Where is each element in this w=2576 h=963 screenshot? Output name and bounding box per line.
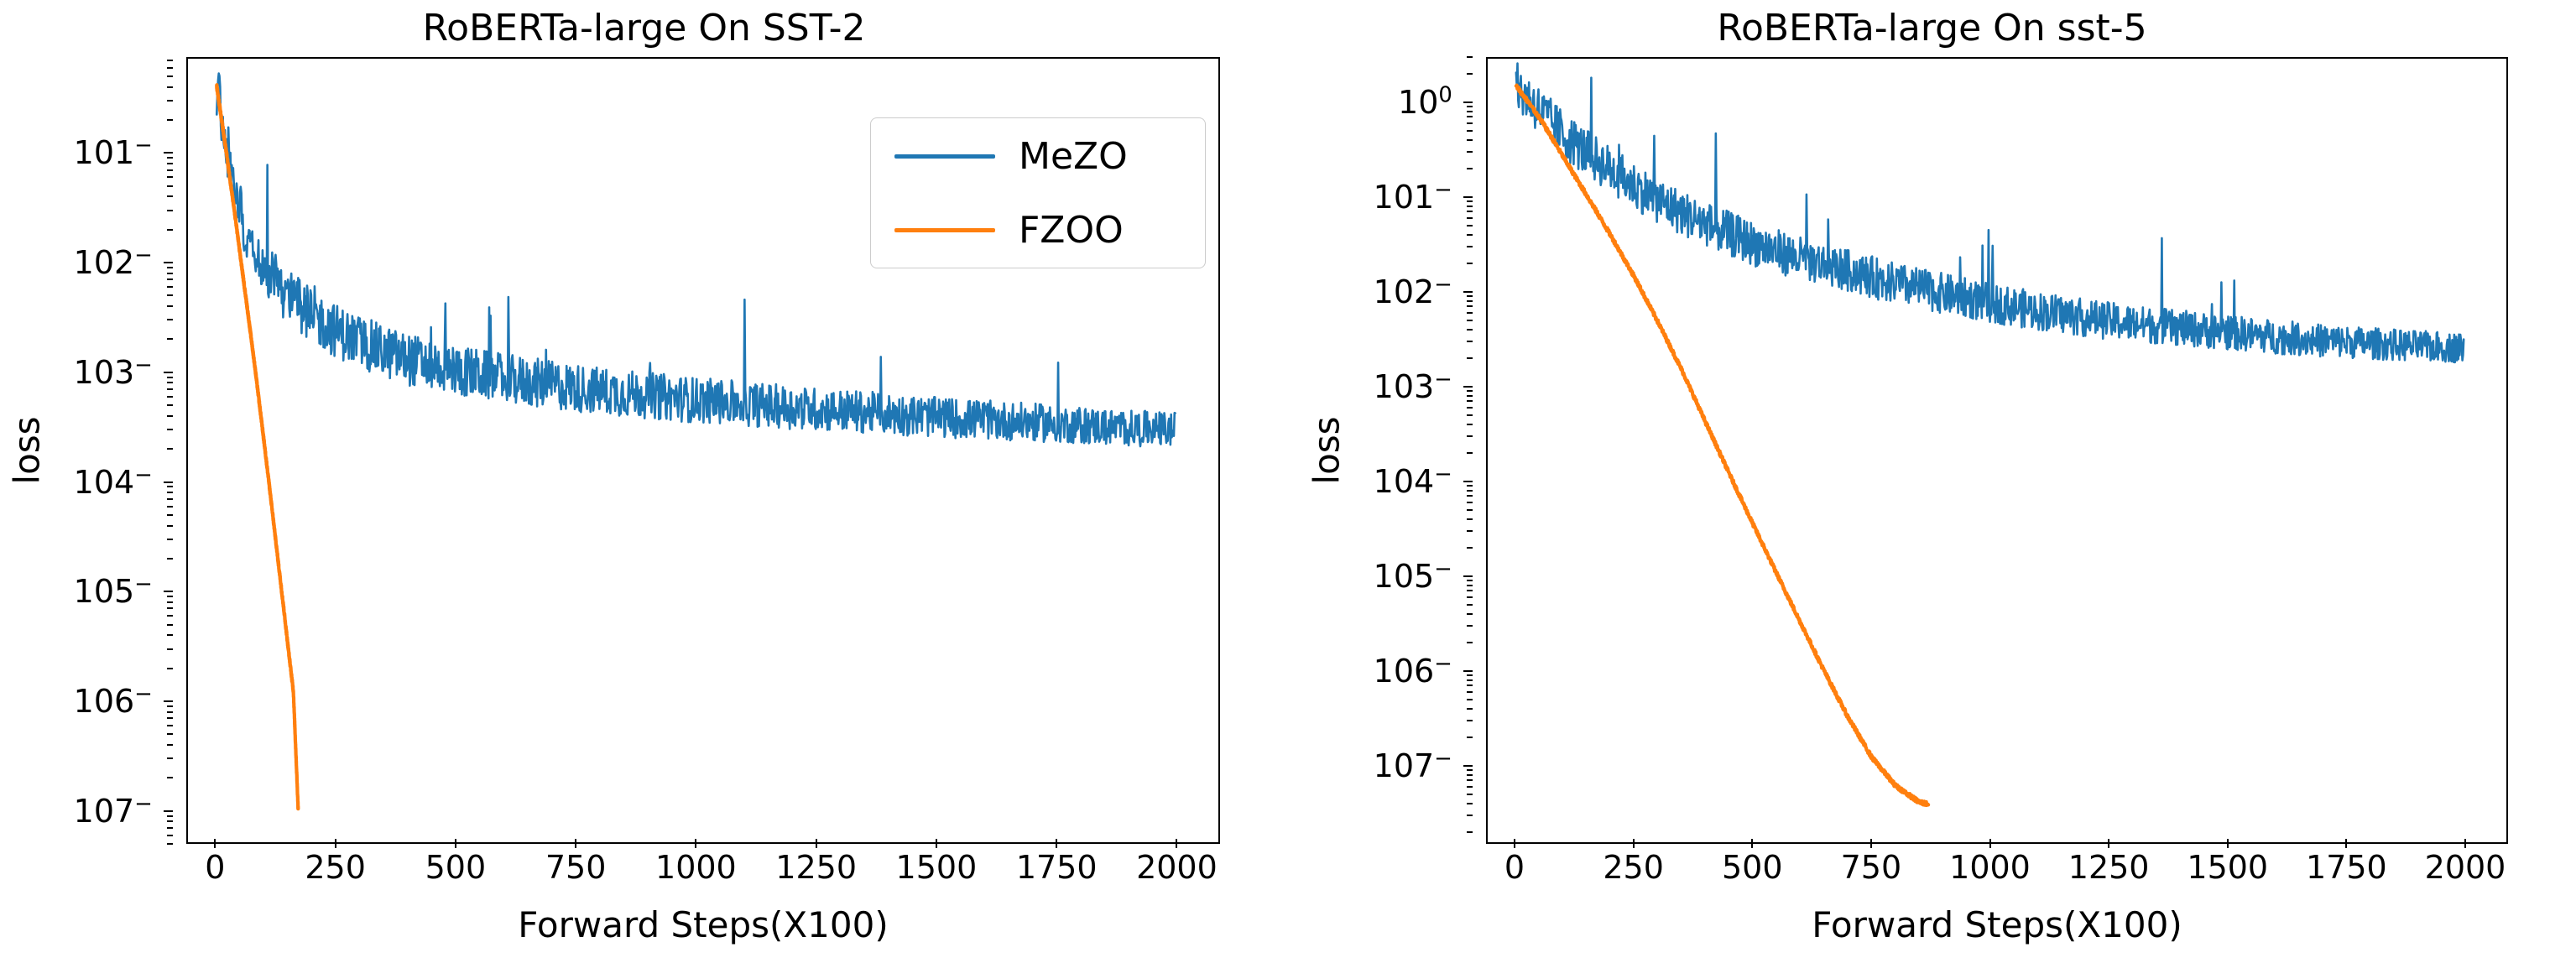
y-tick-mark-minor <box>167 338 173 340</box>
y-tick-mark-minor <box>167 733 173 735</box>
y-tick-mark-minor <box>167 498 173 500</box>
y-tick-mark-minor <box>167 843 173 845</box>
x-axis-label-left: Forward Steps(X100) <box>186 904 1220 945</box>
y-tick-mark-minor <box>167 429 173 430</box>
y-tick-mark-minor <box>167 601 173 603</box>
y-tick-mark-minor <box>167 596 173 597</box>
y-tick-mark-minor <box>167 744 173 746</box>
x-tick-label: 500 <box>425 849 487 886</box>
y-tick-mark-minor <box>1467 502 1473 503</box>
y-tick-mark-minor <box>167 195 173 197</box>
x-axis-label-right: Forward Steps(X100) <box>1486 904 2508 945</box>
chart-panel-left: RoBERTa-large On SST-2 loss 101− 102− 10… <box>0 0 1288 963</box>
y-tick-mark-minor <box>1467 625 1473 627</box>
y-tick-mark-minor <box>167 648 173 650</box>
legend-left[interactable]: MeZO FZOO <box>870 117 1206 268</box>
y-tick-label: 104− <box>74 464 173 501</box>
y-tick-mark-minor <box>1467 815 1473 816</box>
x-tick-mark <box>1989 839 1991 848</box>
y-tick-mark <box>1463 291 1473 293</box>
y-tick-mark-minor <box>1467 151 1473 153</box>
y-tick-mark-minor <box>167 60 173 61</box>
x-tick-label: 0 <box>205 849 225 886</box>
y-tick-label: 103− <box>74 354 173 391</box>
y-tick-mark-minor <box>167 615 173 617</box>
y-tick-mark-minor <box>1467 530 1473 532</box>
y-tick-mark-minor <box>1467 206 1473 207</box>
y-tick-label: 103− <box>1374 368 1473 405</box>
y-tick-mark-minor <box>167 827 173 829</box>
y-axis-ticks-right: 100 101− 102− 103− 104− 105− 106− 107− <box>1288 57 1473 844</box>
y-tick-mark-minor <box>1467 395 1473 397</box>
y-tick-mark-minor <box>1467 691 1473 693</box>
y-tick-mark-minor <box>1467 685 1473 686</box>
y-tick-mark-minor <box>1467 547 1473 549</box>
x-tick-mark <box>936 839 937 848</box>
y-tick-mark-minor <box>167 267 173 268</box>
y-tick-mark-minor <box>1467 56 1473 58</box>
y-tick-mark-minor <box>1467 407 1473 409</box>
series-line-fzoo <box>1516 86 1928 805</box>
x-tick-mark <box>1633 839 1635 848</box>
y-tick-mark-minor <box>1467 225 1473 226</box>
y-tick-mark-minor <box>1467 720 1473 721</box>
y-tick-mark-minor <box>167 278 173 280</box>
y-tick-mark-minor <box>167 835 173 836</box>
y-tick-mark <box>164 700 173 702</box>
y-tick-mark-minor <box>1467 139 1473 141</box>
y-tick-mark-minor <box>1467 794 1473 795</box>
y-tick-mark-minor <box>1467 424 1473 425</box>
chart-title-left: RoBERTa-large On SST-2 <box>0 7 1288 49</box>
y-tick-mark-minor <box>1467 320 1473 321</box>
y-tick-mark-minor <box>1467 305 1473 307</box>
y-tick-mark-minor <box>167 486 173 487</box>
y-tick-mark-minor <box>167 448 173 450</box>
y-tick-mark-minor <box>167 86 173 88</box>
y-tick-mark <box>164 372 173 373</box>
y-tick-mark <box>1463 670 1473 672</box>
x-tick-mark <box>2227 839 2229 848</box>
y-tick-label: 101− <box>1374 179 1473 216</box>
y-tick-mark-minor <box>167 404 173 406</box>
y-tick-mark-minor <box>1467 495 1473 497</box>
y-tick-mark-minor <box>1467 435 1473 437</box>
y-tick-mark-minor <box>167 705 173 707</box>
y-tick-label: 105− <box>1374 558 1473 595</box>
x-tick-label: 1250 <box>2068 849 2150 886</box>
y-tick-mark-minor <box>167 286 173 288</box>
y-tick-mark-minor <box>167 607 173 609</box>
x-tick-mark <box>2345 839 2347 848</box>
y-tick-label: 106− <box>74 683 173 720</box>
x-tick-mark <box>2108 839 2109 848</box>
x-tick-label: 250 <box>305 849 366 886</box>
y-tick-mark-minor <box>167 305 173 307</box>
series-line-mezo <box>1516 64 2464 362</box>
y-tick-mark-minor <box>1467 312 1473 314</box>
x-tick-mark <box>455 839 456 848</box>
y-tick-mark-minor <box>167 229 173 231</box>
y-tick-mark-minor <box>167 67 173 69</box>
legend-swatch-mezo-left <box>894 154 995 159</box>
y-tick-mark-minor <box>167 176 173 178</box>
x-axis-ticks-left: 025050075010001250150017502000 <box>186 849 1220 899</box>
x-tick-mark <box>1870 839 1872 848</box>
y-tick-mark-minor <box>167 820 173 822</box>
y-tick-mark-minor <box>1467 509 1473 511</box>
y-tick-mark-minor <box>1467 400 1473 402</box>
y-tick-mark-minor <box>1467 737 1473 738</box>
y-tick-mark-minor <box>167 163 173 164</box>
x-tick-mark <box>575 839 576 848</box>
x-tick-mark <box>335 839 336 848</box>
x-tick-label: 750 <box>545 849 607 886</box>
y-tick-mark-minor <box>1467 111 1473 112</box>
x-tick-mark <box>1751 839 1753 848</box>
y-tick-mark-minor <box>1467 699 1473 700</box>
chart-title-right: RoBERTa-large On sst-5 <box>1288 7 2576 49</box>
y-tick-mark-minor <box>167 634 173 636</box>
x-tick-mark <box>816 839 817 848</box>
y-tick-mark-minor <box>167 668 173 669</box>
y-tick-mark-minor <box>1467 803 1473 804</box>
legend-item-mezo-left[interactable]: MeZO <box>871 118 1205 194</box>
y-tick-label: 105− <box>74 573 173 610</box>
y-tick-mark-minor <box>1467 73 1473 75</box>
y-tick-mark-minor <box>1467 585 1473 586</box>
y-tick-mark-minor <box>1467 490 1473 492</box>
y-tick-mark-minor <box>1467 217 1473 219</box>
y-tick-mark-minor <box>1467 642 1473 643</box>
y-tick-mark-minor <box>167 185 173 187</box>
y-tick-mark-minor <box>167 624 173 626</box>
y-tick-mark-minor <box>1467 414 1473 416</box>
figure-canvas: RoBERTa-large On SST-2 loss 101− 102− 10… <box>0 0 2576 963</box>
y-tick-mark <box>1463 765 1473 767</box>
x-tick-mark <box>1056 839 1057 848</box>
y-tick-mark <box>1463 196 1473 198</box>
y-tick-label: 101− <box>74 134 173 171</box>
y-tick-mark-minor <box>167 377 173 378</box>
y-tick-mark <box>164 262 173 263</box>
y-tick-mark-minor <box>1467 774 1473 776</box>
y-tick-mark-minor <box>1467 130 1473 132</box>
y-tick-mark-minor <box>1467 831 1473 833</box>
y-tick-mark-minor <box>167 294 173 296</box>
x-tick-label: 2000 <box>1136 849 1218 886</box>
y-tick-mark-minor <box>167 415 173 417</box>
y-tick-mark <box>1463 481 1473 482</box>
plot-lines-right <box>1488 59 2506 842</box>
x-tick-label: 1500 <box>896 849 978 886</box>
legend-swatch-fzoo-left <box>894 228 995 232</box>
x-tick-label: 1500 <box>2187 849 2268 886</box>
y-tick-mark-minor <box>167 558 173 560</box>
y-tick-mark-minor <box>1467 786 1473 788</box>
y-tick-mark-minor <box>1467 674 1473 676</box>
y-tick-mark-minor <box>1467 485 1473 487</box>
y-tick-mark-minor <box>1467 200 1473 202</box>
y-tick-mark-minor <box>1467 679 1473 681</box>
y-tick-label: 107− <box>1374 747 1473 784</box>
y-tick-mark-minor <box>167 717 173 719</box>
y-tick-label: 100 <box>1398 84 1473 121</box>
legend-label-fzoo-left: FZOO <box>1019 209 1124 252</box>
y-tick-mark-minor <box>1467 329 1473 331</box>
y-tick-mark-minor <box>167 319 173 320</box>
x-tick-label: 750 <box>1841 849 1902 886</box>
x-tick-label: 500 <box>1722 849 1783 886</box>
y-tick-mark-minor <box>1467 452 1473 454</box>
y-tick-mark <box>164 152 173 154</box>
y-tick-label: 102− <box>74 244 173 281</box>
y-tick-mark-minor <box>1467 769 1473 771</box>
y-tick-label: 107− <box>74 793 173 830</box>
y-tick-mark <box>1463 575 1473 577</box>
plot-area-right <box>1486 57 2508 844</box>
y-tick-mark-minor <box>1467 300 1473 302</box>
y-tick-mark-minor <box>167 777 173 778</box>
y-tick-mark <box>164 810 173 812</box>
y-tick-mark <box>1463 386 1473 388</box>
y-tick-mark-minor <box>167 382 173 383</box>
x-axis-ticks-right: 025050075010001250150017502000 <box>1486 849 2508 899</box>
y-tick-label: 104− <box>1374 463 1473 500</box>
chart-panel-right: RoBERTa-large On sst-5 loss 100 101− 102… <box>1288 0 2576 963</box>
y-tick-mark-minor <box>1467 390 1473 392</box>
x-tick-label: 2000 <box>2425 849 2506 886</box>
y-tick-mark <box>164 591 173 592</box>
y-tick-mark-minor <box>167 169 173 171</box>
x-tick-mark <box>1176 839 1177 848</box>
y-tick-mark-minor <box>1467 168 1473 169</box>
x-tick-label: 1750 <box>2306 849 2387 886</box>
x-tick-label: 250 <box>1603 849 1664 886</box>
y-tick-mark-minor <box>1467 518 1473 520</box>
y-tick-mark-minor <box>167 388 173 390</box>
x-tick-mark <box>695 839 696 848</box>
y-tick-mark-minor <box>1467 580 1473 581</box>
y-tick-mark-minor <box>167 75 173 77</box>
legend-label-mezo-left: MeZO <box>1019 135 1128 178</box>
y-tick-mark-minor <box>167 396 173 398</box>
y-tick-label: 106− <box>1374 653 1473 690</box>
y-tick-mark-minor <box>167 157 173 159</box>
y-tick-mark-minor <box>1467 234 1473 236</box>
y-tick-mark-minor <box>1467 708 1473 710</box>
x-tick-mark <box>214 839 216 848</box>
series-line-fzoo <box>216 85 298 809</box>
x-tick-label: 0 <box>1504 849 1525 886</box>
y-tick-mark-minor <box>1467 590 1473 591</box>
y-tick-mark-minor <box>167 757 173 759</box>
y-tick-mark-minor <box>167 711 173 713</box>
y-tick-mark-minor <box>1467 604 1473 606</box>
y-tick-mark-minor <box>167 273 173 274</box>
y-tick-mark-minor <box>167 539 173 540</box>
y-tick-mark <box>164 481 173 483</box>
y-tick-mark-minor <box>1467 122 1473 124</box>
x-tick-mark <box>2464 839 2466 848</box>
y-tick-mark-minor <box>167 492 173 493</box>
y-tick-label: 102− <box>1374 273 1473 310</box>
legend-item-fzoo-left[interactable]: FZOO <box>871 192 1205 268</box>
y-tick-mark-minor <box>1467 295 1473 297</box>
y-tick-mark-minor <box>1467 779 1473 781</box>
y-tick-mark-minor <box>1467 246 1473 247</box>
y-tick-mark-minor <box>167 725 173 726</box>
y-tick-mark-minor <box>167 525 173 527</box>
x-tick-label: 1000 <box>1949 849 2031 886</box>
y-tick-mark-minor <box>167 119 173 121</box>
y-tick-mark-minor <box>167 210 173 211</box>
y-tick-mark <box>1463 102 1473 103</box>
y-tick-mark-minor <box>1467 341 1473 342</box>
y-tick-mark-minor <box>1467 596 1473 598</box>
x-tick-label: 1250 <box>775 849 857 886</box>
y-axis-ticks-left: 101− 102− 103− 104− 105− 106− 107− <box>0 57 173 844</box>
y-tick-mark-minor <box>1467 116 1473 117</box>
x-tick-label: 1750 <box>1016 849 1098 886</box>
y-tick-mark-minor <box>1467 263 1473 264</box>
y-tick-mark-minor <box>167 514 173 516</box>
y-tick-mark-minor <box>1467 211 1473 212</box>
y-tick-mark-minor <box>167 506 173 508</box>
y-tick-mark-minor <box>167 815 173 817</box>
x-tick-mark <box>1514 839 1515 848</box>
y-tick-mark-minor <box>1467 357 1473 359</box>
y-tick-mark-minor <box>1467 106 1473 107</box>
y-tick-mark-minor <box>167 100 173 102</box>
y-tick-mark-minor <box>1467 613 1473 615</box>
x-tick-label: 1000 <box>655 849 737 886</box>
